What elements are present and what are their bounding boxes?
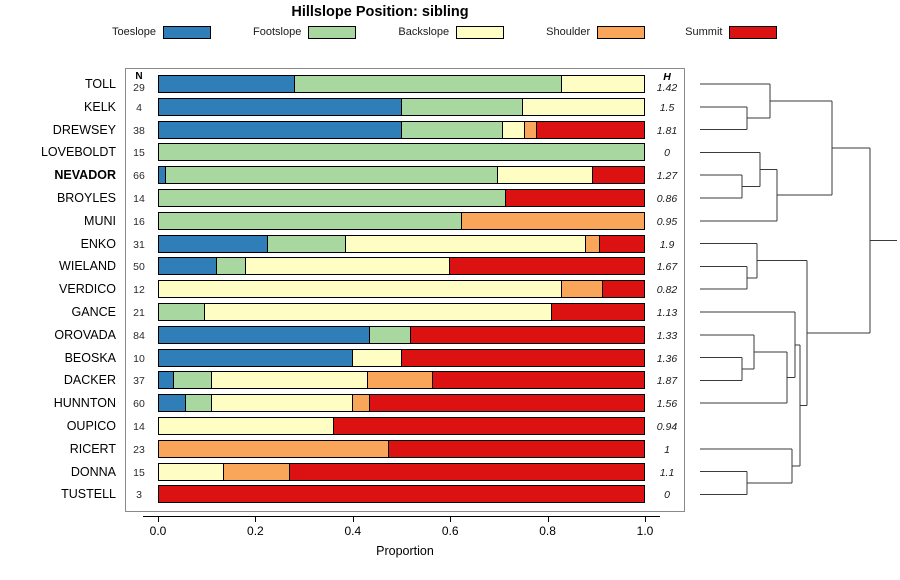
h-value: 1.33 xyxy=(650,331,684,342)
y-axis-labels: TOLLKELKDREWSEYLOVEBOLDTNEVADORBROYLESMU… xyxy=(0,68,122,512)
h-value: 1 xyxy=(650,445,684,456)
y-axis-label-enko: ENKO xyxy=(81,238,116,251)
x-axis-tick-label: 0.0 xyxy=(138,524,178,538)
legend-item-summit: Summit xyxy=(685,26,777,39)
h-value: 0.94 xyxy=(650,422,684,433)
h-column: H1.421.51.8101.270.860.951.91.670.821.13… xyxy=(650,68,686,512)
h-value: 0 xyxy=(650,148,684,159)
n-value: 14 xyxy=(126,194,152,205)
x-axis-tick xyxy=(548,516,549,522)
h-column-header: H xyxy=(650,72,684,83)
h-value: 1.13 xyxy=(650,308,684,319)
n-value: 29 xyxy=(126,83,152,94)
y-axis-label-kelk: KELK xyxy=(84,101,116,114)
legend-swatch xyxy=(729,26,777,39)
y-axis-label-oupico: OUPICO xyxy=(67,420,116,433)
h-value: 1.67 xyxy=(650,262,684,273)
n-value: 60 xyxy=(126,399,152,410)
legend-label: Summit xyxy=(685,26,722,38)
y-axis-label-toll: TOLL xyxy=(85,78,116,91)
x-axis-line xyxy=(143,516,660,517)
y-axis-label-nevador: NEVADOR xyxy=(54,169,116,182)
n-value: 23 xyxy=(126,445,152,456)
h-value: 1.56 xyxy=(650,399,684,410)
page-title: Hillslope Position: sibling xyxy=(0,4,760,20)
x-axis-tick-label: 0.6 xyxy=(430,524,470,538)
h-value: 1.5 xyxy=(650,103,684,114)
n-value: 38 xyxy=(126,126,152,137)
y-axis-label-dacker: DACKER xyxy=(64,374,116,387)
n-value: 50 xyxy=(126,262,152,273)
legend-swatch xyxy=(163,26,211,39)
y-axis-label-drewsey: DREWSEY xyxy=(53,124,116,137)
n-value: 16 xyxy=(126,217,152,228)
legend-item-toeslope: Toeslope xyxy=(112,26,211,39)
n-value: 12 xyxy=(126,285,152,296)
n-value: 21 xyxy=(126,308,152,319)
h-value: 0.82 xyxy=(650,285,684,296)
legend-swatch xyxy=(308,26,356,39)
h-value: 1.36 xyxy=(650,354,684,365)
n-value: 15 xyxy=(126,148,152,159)
legend-item-footslope: Footslope xyxy=(253,26,356,39)
n-value: 84 xyxy=(126,331,152,342)
h-value: 1.42 xyxy=(650,83,684,94)
y-axis-label-wieland: WIELAND xyxy=(59,260,116,273)
y-axis-label-ricert: RICERT xyxy=(70,443,116,456)
x-axis-tick-label: 0.2 xyxy=(235,524,275,538)
h-value: 1.9 xyxy=(650,240,684,251)
x-axis-tick xyxy=(645,516,646,522)
x-axis-title: Proportion xyxy=(125,544,685,558)
n-value: 15 xyxy=(126,468,152,479)
x-axis-tick-label: 1.0 xyxy=(625,524,665,538)
legend-label: Toeslope xyxy=(112,26,156,38)
legend-label: Backslope xyxy=(398,26,449,38)
legend-swatch xyxy=(456,26,504,39)
x-axis-tick xyxy=(255,516,256,522)
x-axis-tick xyxy=(353,516,354,522)
y-axis-label-loveboldt: LOVEBOLDT xyxy=(41,146,116,159)
h-value: 0.95 xyxy=(650,217,684,228)
y-axis-label-donna: DONNA xyxy=(71,466,116,479)
n-value: 37 xyxy=(126,376,152,387)
y-axis-label-gance: GANCE xyxy=(72,306,116,319)
legend-label: Shoulder xyxy=(546,26,590,38)
y-axis-label-hunnton: HUNNTON xyxy=(54,397,116,410)
legend: ToeslopeFootslopeBackslopeShoulderSummit xyxy=(112,24,772,40)
h-value: 0 xyxy=(650,490,684,501)
n-column: N294381566141631501221841037601423153 xyxy=(126,68,156,512)
n-value: 66 xyxy=(126,171,152,182)
y-axis-label-tustell: TUSTELL xyxy=(61,488,116,501)
n-value: 4 xyxy=(126,103,152,114)
x-axis-tick-label: 0.4 xyxy=(333,524,373,538)
h-value: 1.27 xyxy=(650,171,684,182)
y-axis-label-broyles: BROYLES xyxy=(57,192,116,205)
x-axis-tick-label: 0.8 xyxy=(528,524,568,538)
n-value: 14 xyxy=(126,422,152,433)
legend-item-shoulder: Shoulder xyxy=(546,26,645,39)
h-value: 1.1 xyxy=(650,468,684,479)
x-axis-tick xyxy=(450,516,451,522)
y-axis-label-orovada: OROVADA xyxy=(54,329,116,342)
dendrogram xyxy=(692,60,900,520)
y-axis-label-verdico: VERDICO xyxy=(59,283,116,296)
legend-swatch xyxy=(597,26,645,39)
n-value: 3 xyxy=(126,490,152,501)
legend-label: Footslope xyxy=(253,26,301,38)
n-value: 31 xyxy=(126,240,152,251)
h-value: 1.87 xyxy=(650,376,684,387)
legend-item-backslope: Backslope xyxy=(398,26,504,39)
h-value: 0.86 xyxy=(650,194,684,205)
y-axis-label-muni: MUNI xyxy=(84,215,116,228)
n-column-header: N xyxy=(126,72,152,82)
h-value: 1.81 xyxy=(650,126,684,137)
plot-frame xyxy=(125,68,685,512)
n-value: 10 xyxy=(126,354,152,365)
y-axis-label-beoska: BEOSKA xyxy=(65,352,116,365)
x-axis-tick xyxy=(158,516,159,522)
